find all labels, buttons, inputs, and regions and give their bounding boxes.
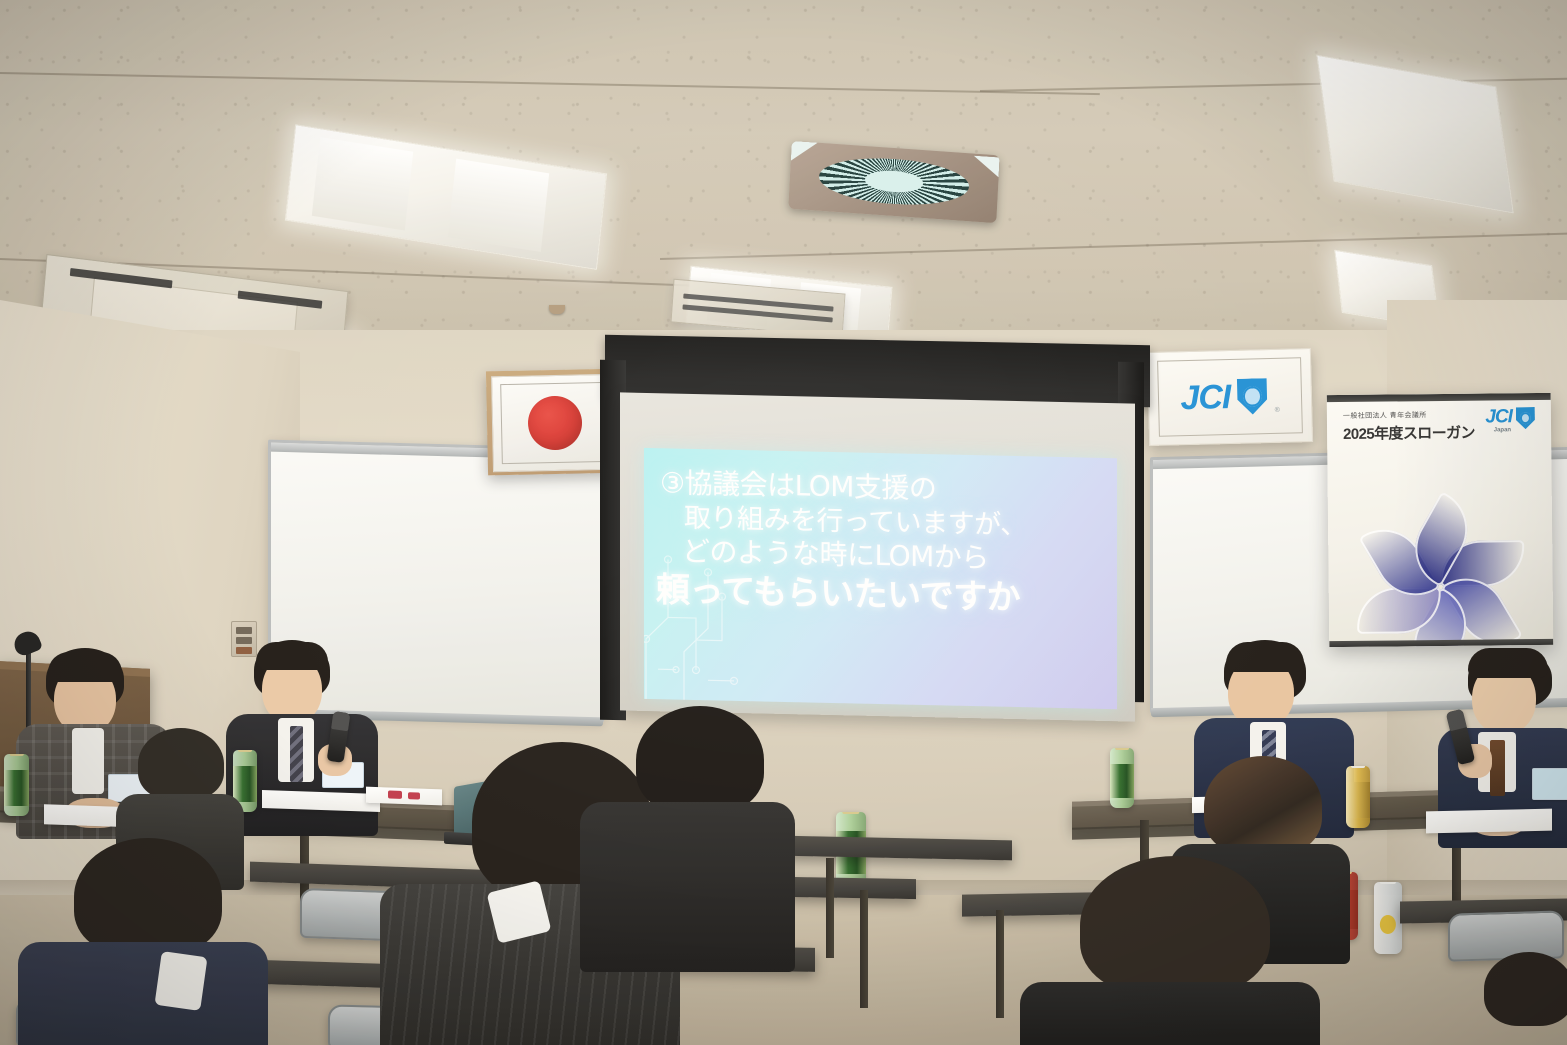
jci-wall-sign: JCI ® — [1147, 348, 1313, 446]
table-leg — [826, 858, 834, 958]
jci-wordmark: JCI — [1485, 407, 1512, 426]
swirl-emblem-icon — [1356, 479, 1526, 647]
necktie — [1490, 740, 1505, 796]
trademark-symbol: ® — [1275, 407, 1280, 414]
hair-fringe — [1226, 642, 1304, 672]
jci-wordmark: JCI — [1180, 380, 1231, 415]
document-paper[interactable] — [1426, 809, 1552, 834]
audience-table — [786, 877, 916, 899]
water-bottle[interactable] — [1374, 882, 1402, 954]
audience-member — [1484, 952, 1567, 1045]
banner-header: 一般社団法人 青年会議所 2025年度スローガン — [1343, 410, 1475, 444]
banner-year-line: 2025年度スローガン — [1343, 422, 1475, 444]
necktie — [290, 726, 303, 782]
hair — [636, 706, 764, 814]
table-leg — [996, 910, 1004, 1018]
hair-fringe — [1468, 648, 1548, 678]
meeting-room-photo: JCI ® 一般社団法人 青年会議所 2025年度スローガン JCI Japan… — [0, 0, 1567, 1045]
slide-text-block: ③協議会はLOM支援の 取り組みを行っていますが、 どのような時にLOMから 頼… — [644, 466, 1117, 621]
banner-org-line: 一般社団法人 青年会議所 — [1343, 410, 1475, 421]
hair-fringe — [48, 652, 122, 682]
green-tea-bottle[interactable] — [1110, 748, 1134, 808]
banner-jci-lockup: JCI — [1485, 407, 1535, 430]
hair-updo — [1204, 756, 1322, 856]
audience-member — [580, 706, 795, 966]
hair — [138, 728, 224, 800]
jci-shield-icon — [1516, 407, 1535, 429]
banner-jci-sub: Japan — [1494, 427, 1511, 433]
hair — [1080, 856, 1270, 996]
hinomaru-disc — [527, 395, 583, 451]
sprinkler-head — [549, 305, 565, 314]
hair — [74, 838, 222, 956]
hair — [1484, 952, 1567, 1026]
shirt — [72, 728, 104, 794]
torso — [1020, 982, 1320, 1045]
projected-slide: ③協議会はLOM支援の 取り組みを行っていますが、 どのような時にLOMから 頼… — [644, 448, 1117, 709]
jci-shield-icon — [1237, 378, 1268, 415]
hair-fringe — [256, 642, 328, 670]
slogan-banner: 一般社団法人 青年会議所 2025年度スローガン JCI Japan 一丸 〜挑… — [1327, 393, 1554, 647]
ceiling-ac-round-vent — [788, 141, 1000, 223]
table-leg — [860, 890, 868, 1008]
name-badge — [1532, 768, 1567, 800]
torso — [18, 942, 268, 1045]
green-tea-bottle[interactable] — [4, 754, 29, 816]
projection-screen: ③協議会はLOM支援の 取り組みを行っていますが、 どのような時にLOMから 頼… — [620, 392, 1135, 721]
shirt-collar — [154, 951, 207, 1011]
audience-member — [1020, 856, 1320, 1045]
audience-member — [18, 838, 268, 1045]
banner-top-bar — [1327, 393, 1551, 402]
torso — [580, 802, 795, 972]
